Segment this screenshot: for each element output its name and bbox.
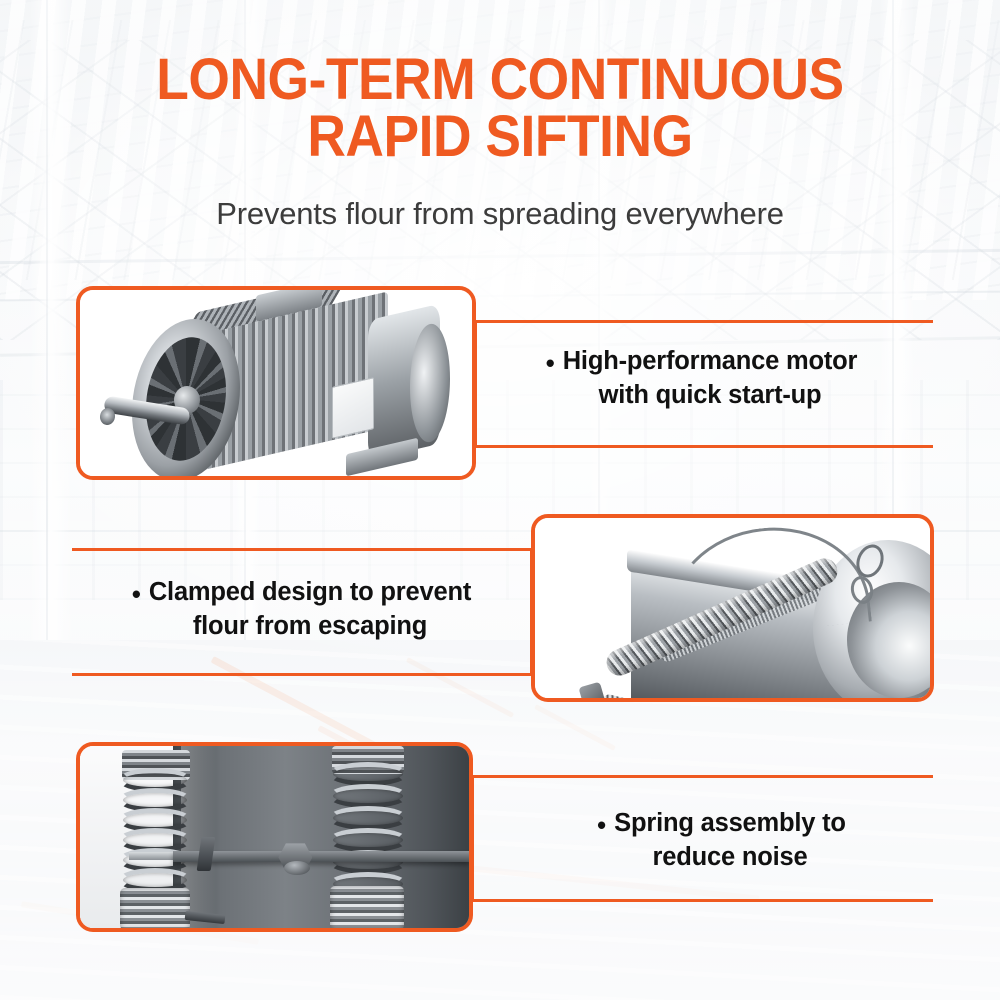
spring-right-coil — [328, 762, 408, 894]
spring-left-coil — [118, 768, 192, 896]
connector-horizontal-top — [72, 548, 533, 551]
connector-horizontal-bottom — [72, 673, 533, 676]
motor-photo — [80, 290, 472, 476]
connector-horizontal-bottom — [471, 899, 933, 902]
spring-right-threaded-base — [330, 886, 404, 930]
connector-horizontal-bottom — [474, 445, 933, 448]
feature-text-clamp: Clamped design to prevent flour from esc… — [110, 575, 510, 643]
feature-card-clamp — [531, 514, 934, 702]
motor-nameplate — [332, 377, 374, 439]
connector-horizontal-top — [474, 320, 933, 323]
spring-left-threaded-base — [120, 888, 190, 930]
connector-horizontal-top — [471, 775, 933, 778]
clamp-photo — [535, 518, 930, 698]
feature-motor-line-2: with quick start-up — [599, 381, 822, 409]
spring-drum-body — [173, 746, 469, 928]
page-subtitle: Prevents flour from spreading everywhere — [0, 196, 1000, 232]
page-title: LONG-TERM CONTINUOUS RAPID SIFTING — [40, 52, 960, 166]
feature-motor-line-1: High-performance motor — [563, 347, 858, 375]
spring-washer — [284, 861, 310, 875]
spring-hook-wire — [662, 518, 872, 642]
feature-spring-line-1: Spring assembly to — [614, 809, 846, 837]
headline-line-2: RAPID SIFTING — [40, 109, 960, 166]
feature-text-motor: High-performance motor with quick start-… — [520, 344, 900, 412]
spring-bracket-left-stub — [129, 852, 176, 860]
feature-card-motor — [76, 286, 476, 480]
feature-spring-line-2: reduce noise — [653, 843, 808, 871]
clamp-end-fitting — [578, 682, 609, 702]
coil-turn — [328, 784, 408, 808]
feature-card-spring — [76, 742, 473, 932]
coil-turn — [328, 806, 408, 830]
feature-text-spring: Spring assembly to reduce noise — [560, 806, 900, 874]
spring-photo — [80, 746, 469, 928]
spring-support-bracket — [173, 851, 469, 862]
feature-clamp-line-1: Clamped design to prevent — [149, 578, 471, 606]
coil-turn — [328, 828, 408, 852]
feature-clamp-line-2: flour from escaping — [193, 612, 427, 640]
coil-turn — [328, 762, 408, 786]
headline-line-1: LONG-TERM CONTINUOUS — [156, 47, 843, 112]
